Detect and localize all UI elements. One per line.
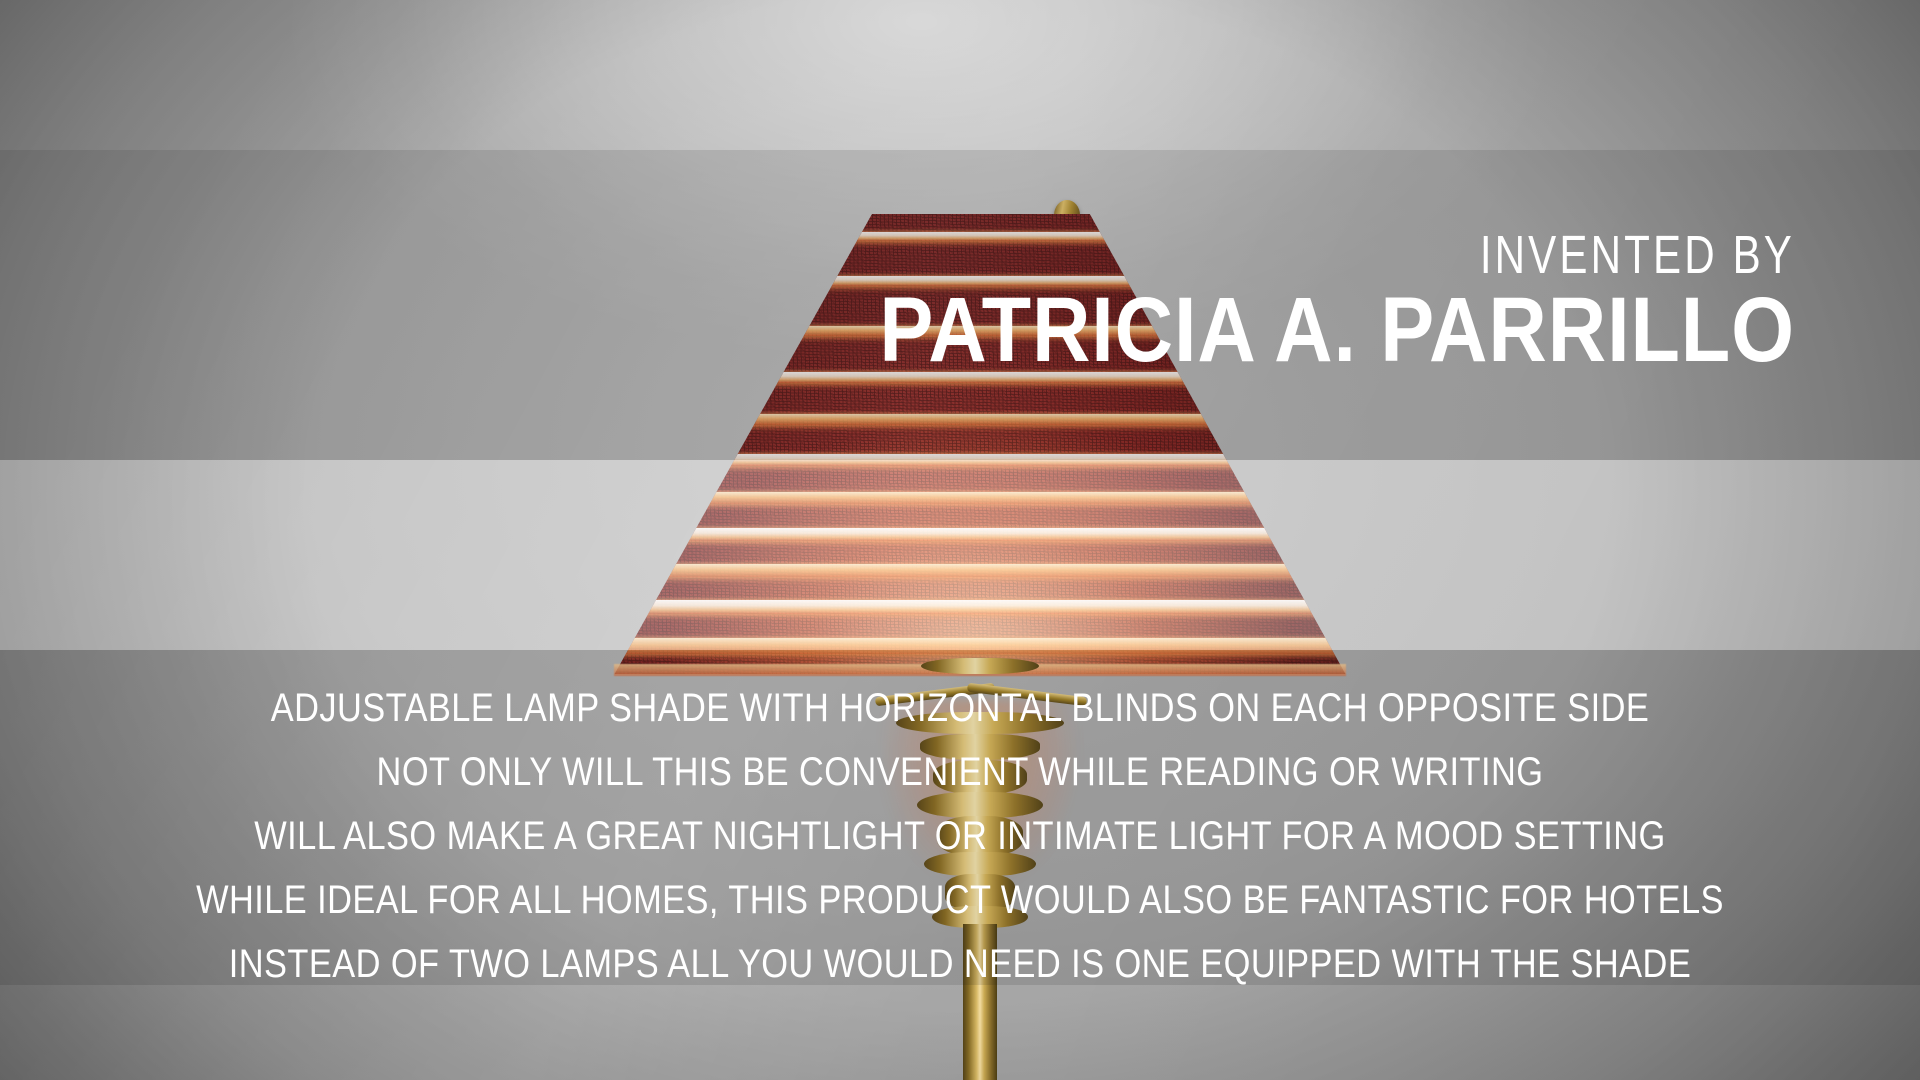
inventor-name-title: PATRICIA A. PARRILLO	[215, 284, 1795, 376]
description-line: WILL ALSO MAKE A GREAT NIGHTLIGHT OR INT…	[134, 804, 1785, 868]
invented-by-eyebrow: INVENTED BY	[395, 228, 1795, 282]
poster-canvas: INVENTED BY PATRICIA A. PARRILLO ADJUSTA…	[0, 0, 1920, 1080]
text-overlay: INVENTED BY PATRICIA A. PARRILLO ADJUSTA…	[0, 0, 1920, 1080]
description-line: INSTEAD OF TWO LAMPS ALL YOU WOULD NEED …	[134, 932, 1785, 996]
description-block: ADJUSTABLE LAMP SHADE WITH HORIZONTAL BL…	[0, 676, 1920, 996]
description-line: ADJUSTABLE LAMP SHADE WITH HORIZONTAL BL…	[134, 676, 1785, 740]
description-line: WHILE IDEAL FOR ALL HOMES, THIS PRODUCT …	[134, 868, 1785, 932]
description-line: NOT ONLY WILL THIS BE CONVENIENT WHILE R…	[134, 740, 1785, 804]
